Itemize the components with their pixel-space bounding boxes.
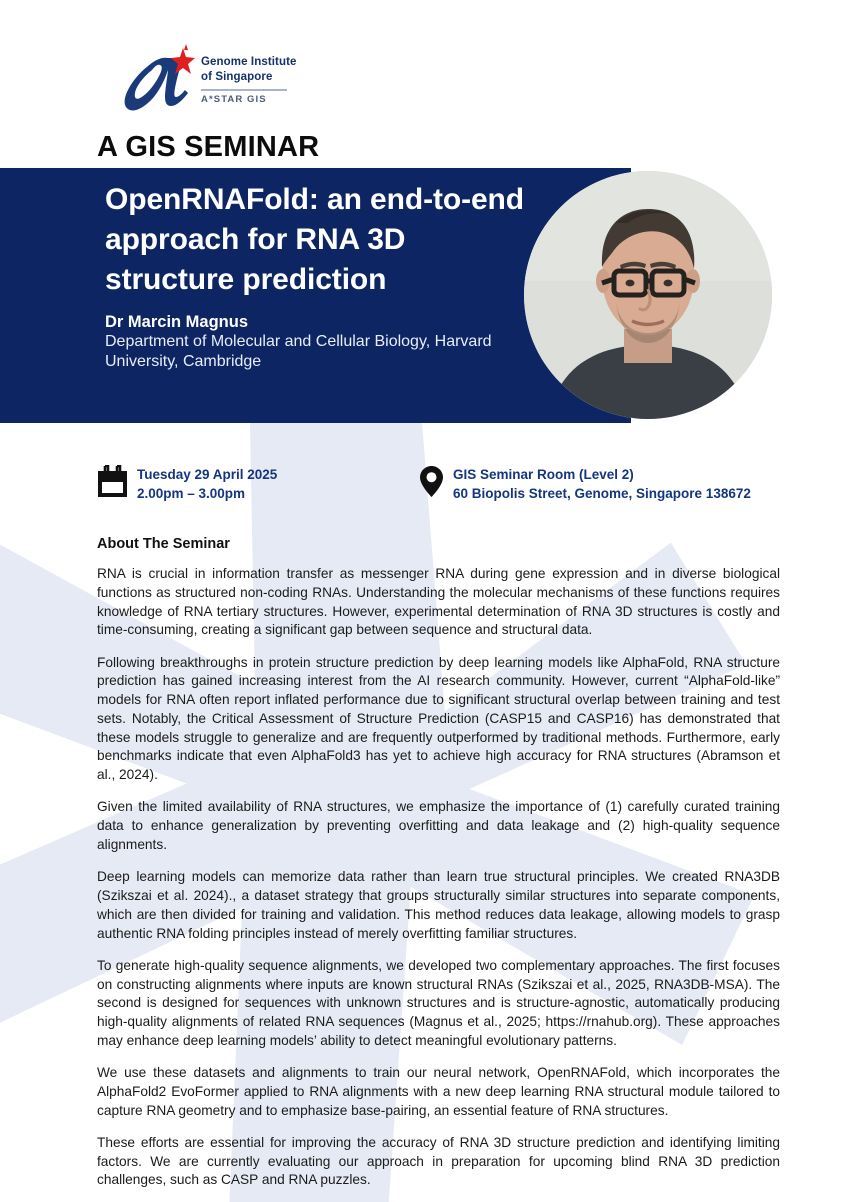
- abstract-paragraph: To generate high-quality sequence alignm…: [97, 957, 780, 1051]
- astar-a-star-logo-icon: [105, 44, 197, 116]
- abstract-paragraph: Deep learning models can memorize data r…: [97, 868, 780, 943]
- event-details: Tuesday 29 April 2025 2.00pm – 3.00pm GI…: [97, 465, 797, 503]
- detail-when: Tuesday 29 April 2025 2.00pm – 3.00pm: [97, 465, 419, 503]
- avatar: [524, 171, 772, 419]
- about-heading: About The Seminar: [97, 536, 780, 552]
- event-time: 2.00pm – 3.00pm: [137, 486, 245, 501]
- map-pin-icon: [419, 465, 444, 503]
- logo-divider: [201, 89, 287, 91]
- abstract-section: About The Seminar RNA is crucial in info…: [97, 536, 780, 1190]
- speaker-name: Dr Marcin Magnus: [105, 313, 525, 332]
- abstract-paragraph: Given the limited availability of RNA st…: [97, 798, 780, 854]
- abstract-paragraph: RNA is crucial in information transfer a…: [97, 565, 780, 640]
- abstract-paragraph: These efforts are essential for improvin…: [97, 1134, 780, 1190]
- event-address: 60 Biopolis Street, Genome, Singapore 13…: [453, 486, 751, 501]
- detail-where: GIS Seminar Room (Level 2) 60 Biopolis S…: [419, 465, 751, 503]
- detail-where-text: GIS Seminar Room (Level 2) 60 Biopolis S…: [453, 465, 751, 503]
- page-title: A GIS SEMINAR: [97, 131, 319, 164]
- speaker-portrait-image: [524, 171, 772, 419]
- abstract-paragraph: We use these datasets and alignments to …: [97, 1064, 780, 1120]
- event-venue: GIS Seminar Room (Level 2): [453, 467, 634, 482]
- calendar-icon: [97, 465, 128, 503]
- gis-logo: Genome Institute of Singapore A*STAR GIS: [105, 44, 297, 116]
- speaker-affiliation: Department of Molecular and Cellular Bio…: [105, 332, 525, 373]
- detail-when-text: Tuesday 29 April 2025 2.00pm – 3.00pm: [137, 465, 277, 503]
- logo-line-1: Genome Institute: [201, 55, 297, 70]
- logo-line-3: A*STAR GIS: [201, 94, 297, 105]
- talk-title: OpenRNAFold: an end-to-end approach for …: [105, 180, 525, 300]
- logo-line-2: of Singapore: [201, 70, 297, 85]
- banner-content: OpenRNAFold: an end-to-end approach for …: [105, 180, 525, 373]
- event-date: Tuesday 29 April 2025: [137, 467, 277, 482]
- abstract-paragraph: Following breakthroughs in protein struc…: [97, 654, 780, 785]
